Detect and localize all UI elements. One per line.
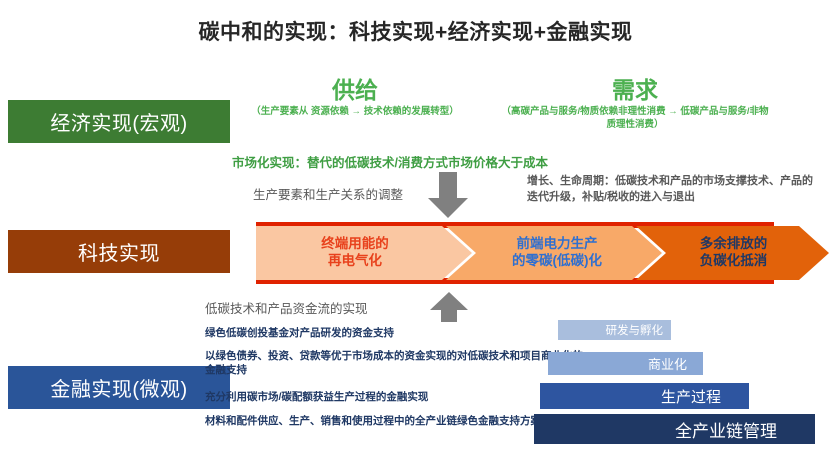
demand-subtitle: （高碳产品与服务/物质依赖非理性消费 → 低碳产品与服务/非物质理性消费） [500,106,770,131]
market-realization-text: 市场化实现：替代的低碳技术/消费方式市场价格大于成本 [232,152,548,171]
category-box-macro: 经济实现(宏观) [8,100,230,143]
category-label-micro: 金融实现(微观) [50,373,187,402]
finance-line-4: 材料和配件供应、生产、销售和使用过程中的全产业链绿色金融支持方案； [205,414,585,428]
chevron-step-1-label: 终端用能的再电气化 [256,236,472,270]
category-box-micro: 金融实现(微观) [8,366,230,409]
slide-canvas: 碳中和的实现：科技实现+经济实现+金融实现 经济实现(宏观) 科技实现 金融实现… [0,0,831,456]
stage-bar-rnd-label: 研发与孵化 [606,322,664,338]
supply-header: 供给 （生产要素从 资源依赖 → 技术依赖的发展转型） [240,78,470,119]
supply-subtitle: （生产要素从 资源依赖 → 技术依赖的发展转型） [240,106,470,119]
demand-header: 需求 （高碳产品与服务/物质依赖非理性消费 → 低碳产品与服务/非物质理性消费） [500,78,770,131]
stage-bar-commercialization-label: 商业化 [648,354,687,373]
growth-lifecycle-text: 增长、生命周期：低碳技术和产品的市场支撑技术、产品的迭代升级，补贴/税收的进入与… [527,174,822,205]
chevron-step-3-label: 多余排放的负碳化抵消 [636,236,829,270]
tech-pathway-band: 终端用能的再电气化 前端电力生产的零碳(低碳)化 多余排放的负碳化抵消 [256,222,829,284]
arrow-up-icon [430,292,468,322]
category-label-macro: 经济实现(宏观) [50,107,187,136]
supply-title: 供给 [240,78,470,103]
finance-line-2: 以绿色债券、投资、贷款等优于市场成本的资金实现的对低碳技术和项目商业化的金融支持 [205,349,585,378]
chevron-step-3[interactable]: 多余排放的负碳化抵消 [636,226,829,280]
category-label-tech: 科技实现 [78,237,160,266]
arrow-down-icon [428,172,468,218]
stage-bar-production[interactable]: 生产过程 [540,383,749,409]
production-factor-text: 生产要素和生产关系的调整 [253,184,403,203]
stage-bar-production-label: 生产过程 [661,386,721,407]
category-box-tech: 科技实现 [8,230,230,273]
stage-bar-rnd[interactable]: 研发与孵化 [558,320,671,340]
finance-line-1: 绿色低碳创投基金对产品研发的资金支持 [205,326,585,340]
stage-bar-value-chain-label: 全产业链管理 [675,417,777,442]
stage-bar-value-chain[interactable]: 全产业链管理 [534,414,815,444]
finance-line-3: 充分利用碳市场/碳配额获益生产过程的金融实现 [205,390,585,404]
page-title: 碳中和的实现：科技实现+经济实现+金融实现 [0,16,831,46]
chevron-step-1[interactable]: 终端用能的再电气化 [256,226,472,280]
stage-bar-commercialization[interactable]: 商业化 [548,352,703,375]
chevron-step-2-label: 前端电力生产的零碳(低碳)化 [446,236,662,270]
chevron-step-2[interactable]: 前端电力生产的零碳(低碳)化 [446,226,662,280]
demand-title: 需求 [500,78,770,103]
finance-caption: 低碳技术和产品资金流的实现 [205,298,368,317]
